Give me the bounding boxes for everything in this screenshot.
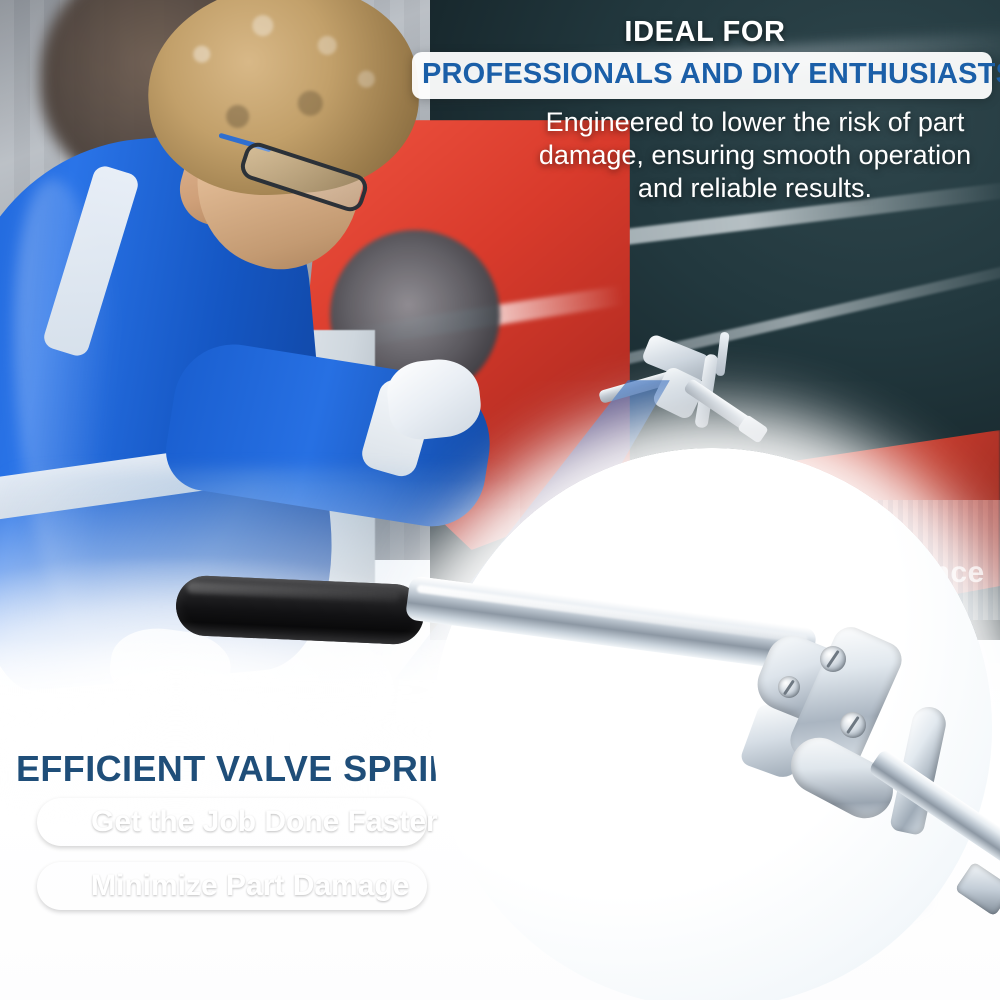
foam-grip-handle <box>175 575 425 646</box>
headline-badge-wrap: PROFESSIONALS AND DIY ENTHUSIASTS <box>412 52 992 99</box>
description-text: Engineered to lower the risk of part dam… <box>520 106 990 205</box>
headline-badge: PROFESSIONALS AND DIY ENTHUSIASTS <box>412 52 992 99</box>
screw-icon <box>820 646 846 672</box>
screw-icon <box>778 676 800 698</box>
screw-icon <box>840 712 866 738</box>
valve-spring-tool-foreground <box>160 560 1000 980</box>
chrome-shaft <box>405 575 817 672</box>
eyebrow-headline: IDEAL FOR <box>420 16 990 49</box>
rod-tip <box>955 861 1000 916</box>
headline-badge-label: PROFESSIONALS AND DIY ENTHUSIASTS <box>422 58 1000 90</box>
product-banner: nzence IDEAL FOR PROFESSIONALS AND DIY E… <box>0 0 1000 1000</box>
